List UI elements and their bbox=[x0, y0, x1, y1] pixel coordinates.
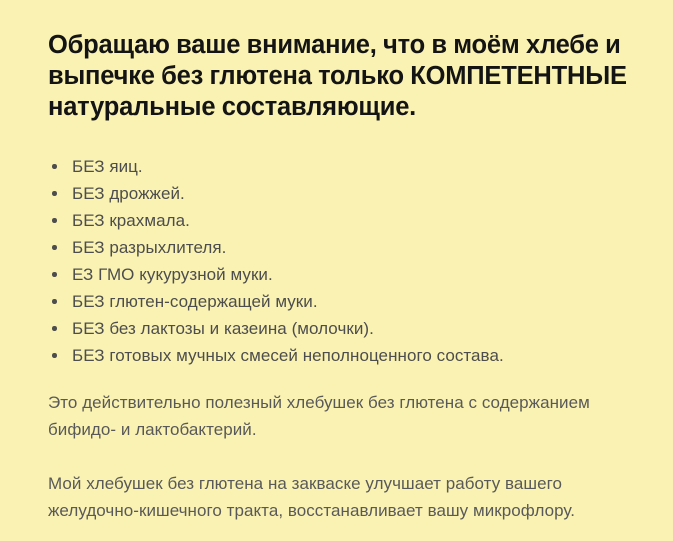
list-item: БЕЗ крахмала. bbox=[52, 207, 628, 234]
bullet-dot-icon bbox=[52, 191, 57, 196]
list-item: БЕЗ яиц. bbox=[52, 153, 628, 180]
list-item-label: БЕЗ яиц. bbox=[72, 157, 143, 176]
bullet-dot-icon bbox=[52, 218, 57, 223]
list-item-label: БЕЗ без лактозы и казеина (молочки). bbox=[72, 319, 374, 338]
bullet-dot-icon bbox=[52, 299, 57, 304]
bullet-dot-icon bbox=[52, 353, 57, 358]
body-paragraph-benefits: Это действительно полезный хлебушек без … bbox=[48, 369, 626, 443]
list-item: БЕЗ дрожжей. bbox=[52, 180, 628, 207]
ingredient-exclusion-list: БЕЗ яиц. БЕЗ дрожжей. БЕЗ крахмала. БЕЗ … bbox=[48, 123, 628, 369]
bullet-dot-icon bbox=[52, 272, 57, 277]
list-item-label: ЕЗ ГМО кукурузной муки. bbox=[72, 265, 273, 284]
list-item-label: БЕЗ крахмала. bbox=[72, 211, 190, 230]
document-page: Обращаю ваше внимание, что в моём хлебе … bbox=[0, 0, 673, 541]
list-item-label: БЕЗ разрыхлителя. bbox=[72, 238, 226, 257]
list-item: БЕЗ без лактозы и казеина (молочки). bbox=[52, 315, 628, 342]
bullet-dot-icon bbox=[52, 326, 57, 331]
content-column: Обращаю ваше внимание, что в моём хлебе … bbox=[48, 0, 628, 524]
list-item: БЕЗ разрыхлителя. bbox=[52, 234, 628, 261]
bullet-dot-icon bbox=[52, 164, 57, 169]
page-title: Обращаю ваше внимание, что в моём хлебе … bbox=[48, 0, 633, 123]
list-item-label: БЕЗ дрожжей. bbox=[72, 184, 185, 203]
list-item: БЕЗ глютен-содержащей муки. bbox=[52, 288, 628, 315]
list-item-label: БЕЗ готовых мучных смесей неполноценного… bbox=[72, 346, 504, 365]
list-item: БЕЗ готовых мучных смесей неполноценного… bbox=[52, 342, 628, 369]
list-item-label: БЕЗ глютен-содержащей муки. bbox=[72, 292, 318, 311]
bullet-dot-icon bbox=[52, 245, 57, 250]
body-paragraph-digestion: Мой хлебушек без глютена на закваске улу… bbox=[48, 443, 626, 524]
list-item: ЕЗ ГМО кукурузной муки. bbox=[52, 261, 628, 288]
